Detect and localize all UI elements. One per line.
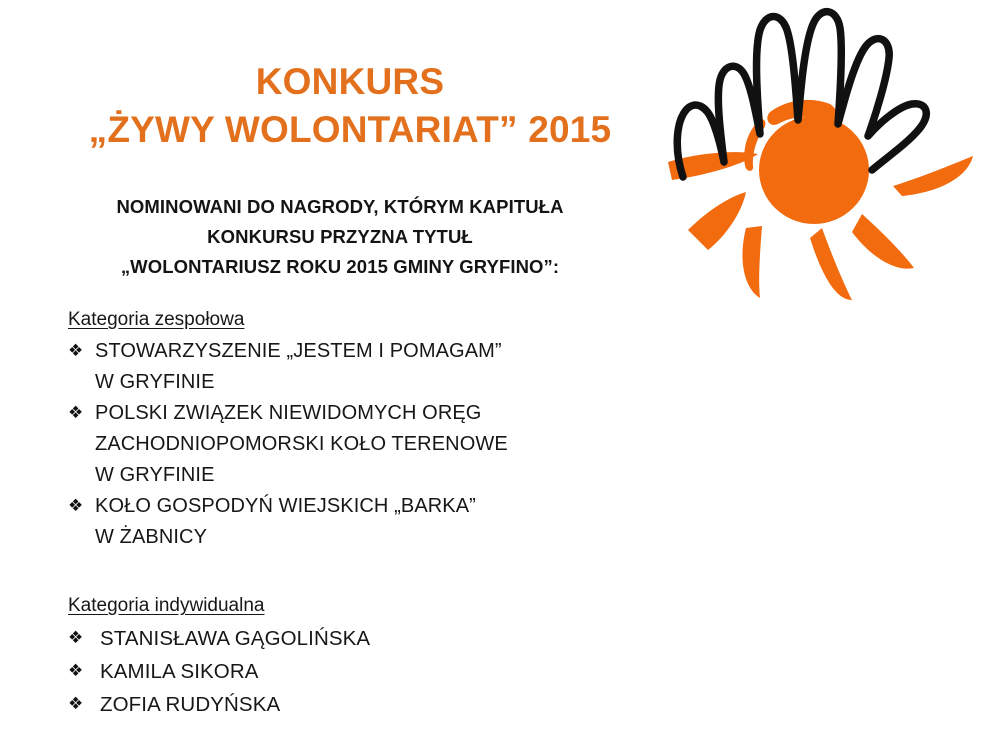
- list-item: ❖ STOWARZYSZENIE „JESTEM I POMAGAM” W GR…: [68, 336, 668, 398]
- list-item-main: STOWARZYSZENIE „JESTEM I POMAGAM”: [95, 340, 502, 362]
- diamond-bullet-icon: ❖: [68, 688, 95, 721]
- list-item-cont-1: W ŻABNICY: [95, 522, 668, 553]
- list-item-text: KAMILA SIKORA: [95, 655, 668, 688]
- section-team-heading-row: Kategoria zespołowa: [68, 305, 668, 336]
- list-item: ❖ KOŁO GOSPODYŃ WIEJSKICH „BARKA” W ŻABN…: [68, 491, 668, 553]
- section-individual-list: ❖ STANISŁAWA GĄGOLIŃSKA ❖ KAMILA SIKORA …: [68, 622, 668, 721]
- list-item-text: ZOFIA RUDYŃSKA: [95, 688, 668, 721]
- list-item-cont-2: W GRYFINIE: [95, 460, 668, 491]
- section-team: Kategoria zespołowa ❖ STOWARZYSZENIE „JE…: [68, 305, 668, 553]
- nominees-body: Kategoria zespołowa ❖ STOWARZYSZENIE „JE…: [68, 305, 668, 721]
- list-item: ❖ ZOFIA RUDYŃSKA: [68, 688, 668, 721]
- list-item-cont-1: ZACHODNIOPOMORSKI KOŁO TERENOWE: [95, 429, 668, 460]
- list-item-text: KOŁO GOSPODYŃ WIEJSKICH „BARKA” W ŻABNIC…: [95, 491, 668, 553]
- slide-title: KONKURS „ŻYWY WOLONTARIAT” 2015: [40, 58, 660, 154]
- subtitle-line-2: KONKURSU PRZYZNA TYTUŁ: [40, 222, 640, 252]
- list-item: ❖ KAMILA SIKORA: [68, 655, 668, 688]
- list-item-main: KOŁO GOSPODYŃ WIEJSKICH „BARKA”: [95, 495, 476, 517]
- title-line-1: KONKURS: [40, 58, 660, 106]
- sun-circle-icon: [744, 100, 869, 224]
- list-item: ❖ STANISŁAWA GĄGOLIŃSKA: [68, 622, 668, 655]
- diamond-bullet-icon: ❖: [68, 655, 95, 688]
- list-item-text: STOWARZYSZENIE „JESTEM I POMAGAM” W GRYF…: [95, 336, 668, 398]
- list-item-text: STANISŁAWA GĄGOLIŃSKA: [95, 622, 668, 655]
- subtitle-line-1: NOMINOWANI DO NAGRODY, KTÓRYM KAPITUŁA: [40, 192, 640, 222]
- title-line-2: „ŻYWY WOLONTARIAT” 2015: [40, 106, 660, 154]
- list-item: ❖ POLSKI ZWIĄZEK NIEWIDOMYCH ORĘG ZACHOD…: [68, 398, 668, 491]
- list-item-text: POLSKI ZWIĄZEK NIEWIDOMYCH ORĘG ZACHODNI…: [95, 398, 668, 491]
- diamond-bullet-icon: ❖: [68, 336, 95, 367]
- section-team-list: ❖ STOWARZYSZENIE „JESTEM I POMAGAM” W GR…: [68, 336, 668, 553]
- section-team-heading: Kategoria zespołowa: [68, 305, 244, 335]
- diamond-bullet-icon: ❖: [68, 398, 95, 429]
- diamond-bullet-icon: ❖: [68, 491, 95, 522]
- list-item-main: POLSKI ZWIĄZEK NIEWIDOMYCH ORĘG: [95, 402, 481, 424]
- section-individual-heading: Kategoria indywidualna: [68, 591, 264, 621]
- diamond-bullet-icon: ❖: [68, 622, 95, 655]
- subtitle-line-3: „WOLONTARIUSZ ROKU 2015 GMINY GRYFINO”:: [40, 252, 640, 282]
- section-spacer: [68, 553, 668, 591]
- hand-and-sun-logo: [650, 0, 992, 320]
- section-individual-heading-row: Kategoria indywidualna: [68, 591, 668, 622]
- list-item-cont-1: W GRYFINIE: [95, 367, 668, 398]
- slide-subtitle: NOMINOWANI DO NAGRODY, KTÓRYM KAPITUŁA K…: [40, 192, 640, 282]
- section-individual: Kategoria indywidualna ❖ STANISŁAWA GĄGO…: [68, 591, 668, 721]
- presentation-slide: KONKURS „ŻYWY WOLONTARIAT” 2015 NOMINOWA…: [0, 0, 992, 744]
